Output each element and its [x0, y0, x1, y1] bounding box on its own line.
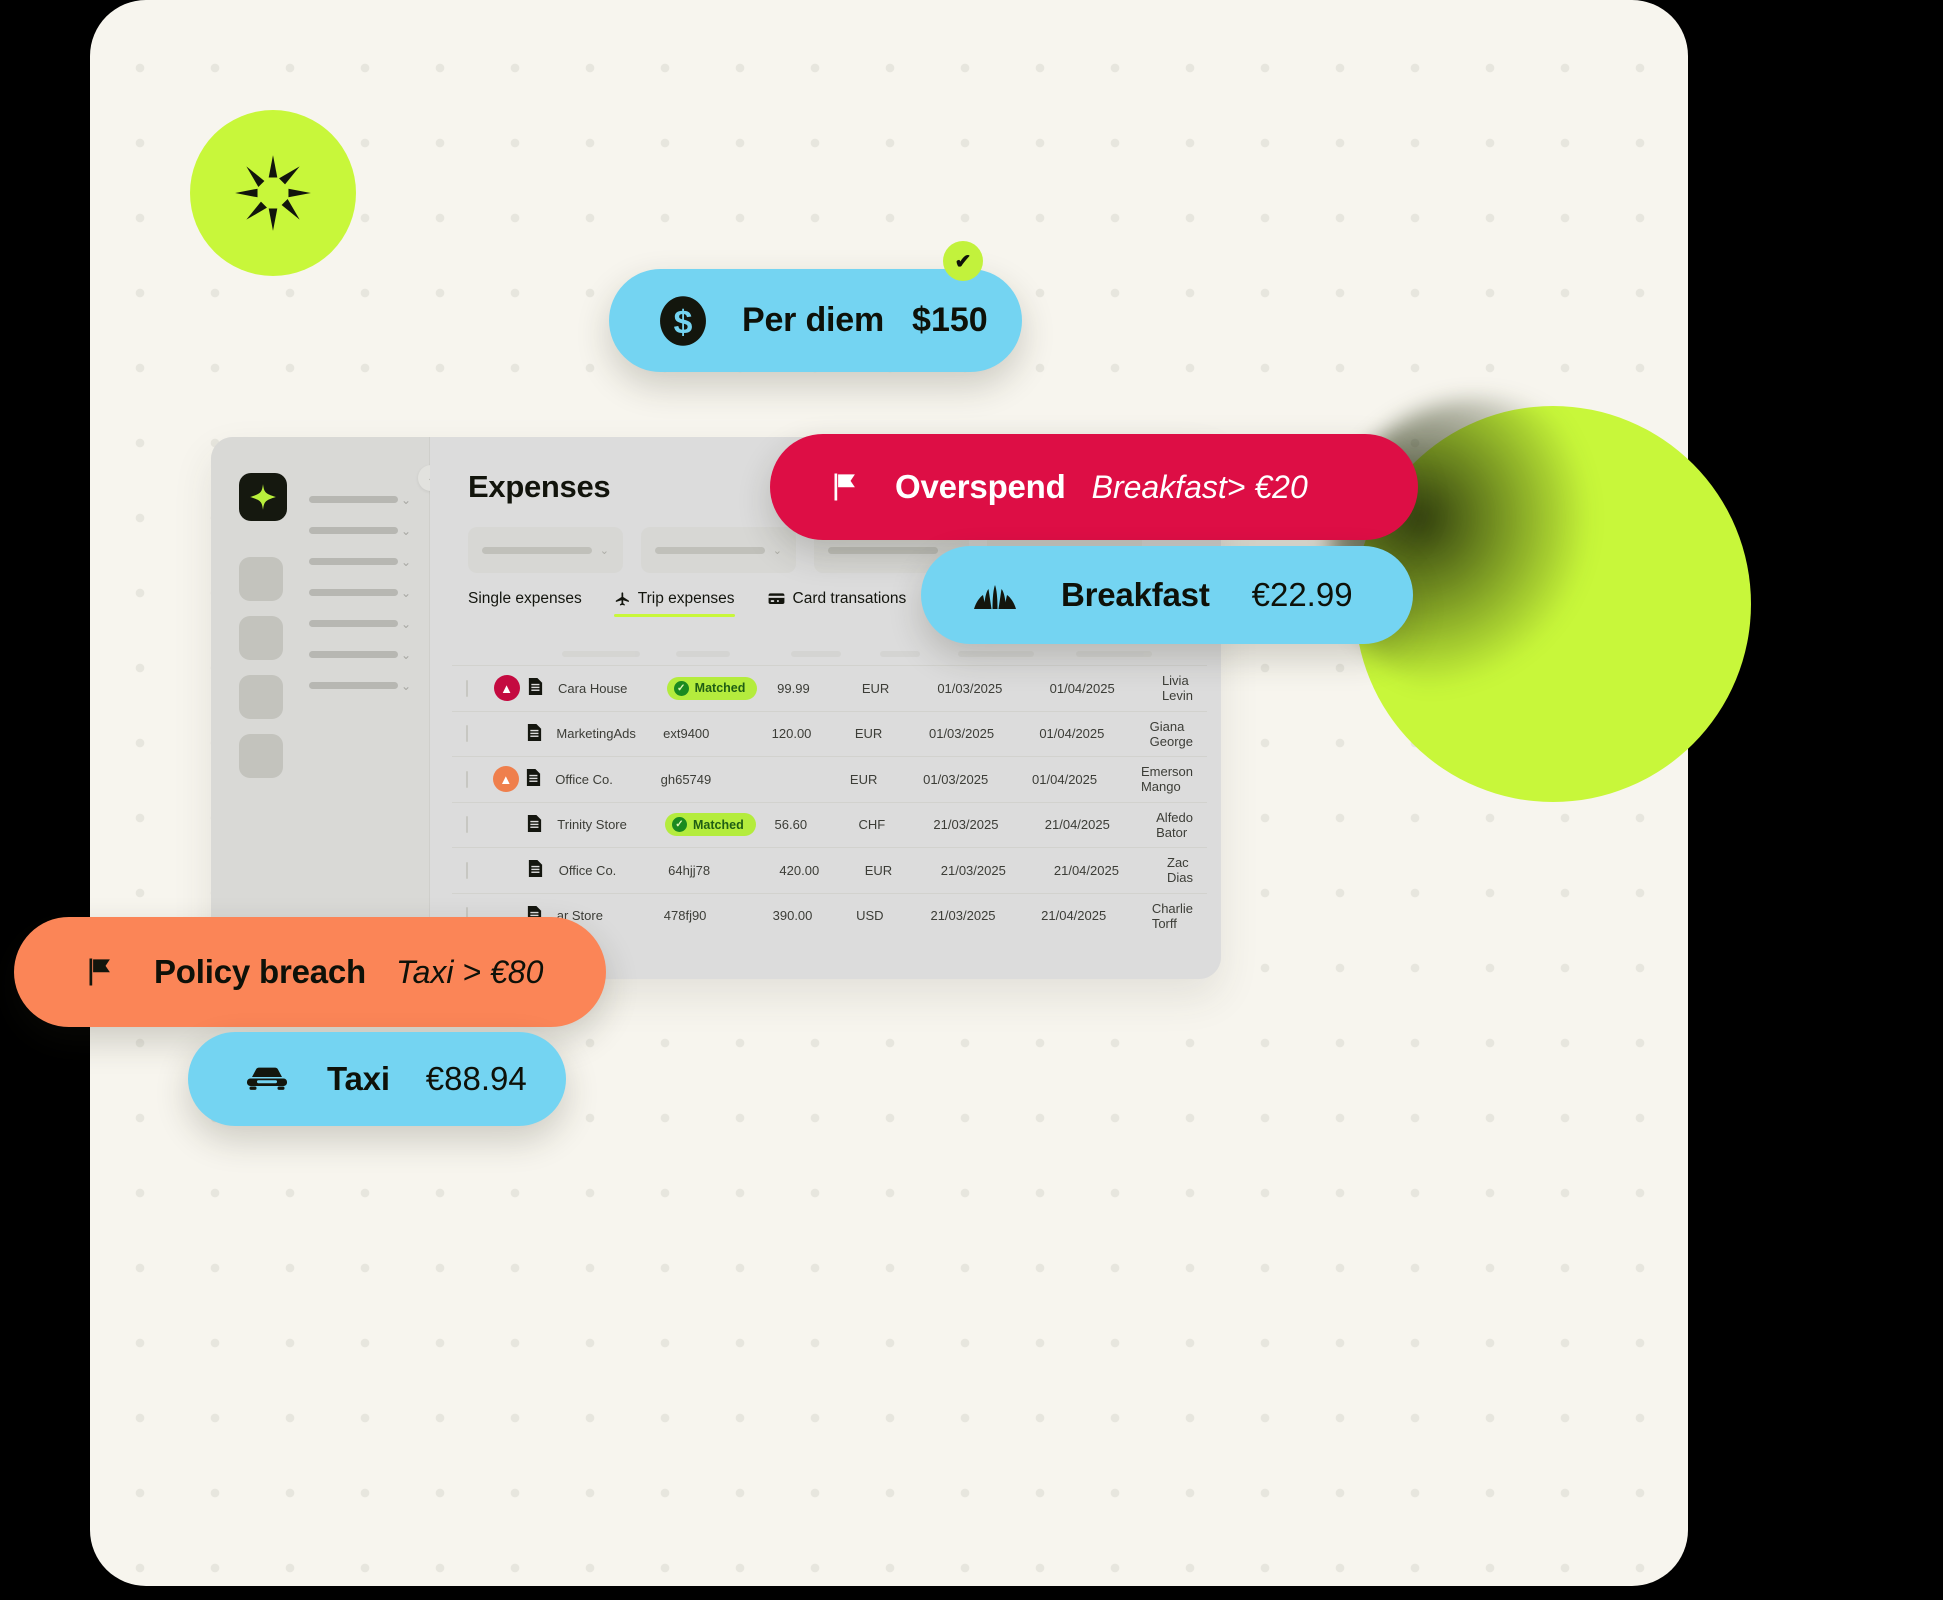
menu-label-placeholder — [309, 558, 398, 565]
policy-breach-label: Policy breach — [154, 953, 366, 991]
croissant-icon — [973, 577, 1017, 613]
document-icon[interactable] — [525, 768, 555, 790]
document-icon[interactable] — [526, 723, 557, 745]
taxi-pill[interactable]: Taxi €88.94 — [188, 1032, 566, 1126]
sidebar-menu-row[interactable]: ⌄ — [309, 515, 414, 546]
cell-status: 478fj90 — [664, 908, 773, 923]
filter-value-placeholder — [828, 547, 938, 554]
cell-date-from: 21/03/2025 — [941, 863, 1054, 878]
cell-status: gh65749 — [661, 772, 768, 787]
checkbox-box — [466, 680, 468, 697]
breakfast-value: €22.99 — [1252, 576, 1353, 614]
document-icon[interactable] — [526, 814, 557, 836]
flag-icon — [827, 469, 863, 505]
cell-date-from: 21/03/2025 — [933, 817, 1044, 832]
sidebar-menu-row[interactable]: ⌄ — [309, 639, 414, 670]
per-diem-label: Per diem — [742, 301, 884, 340]
cell-person: Alfedo Bator — [1156, 810, 1193, 840]
row-alert-cell: ▲ — [493, 766, 525, 792]
sidebar-menu-row[interactable]: ⌄ — [309, 577, 414, 608]
cell-amount: 56.60 — [775, 817, 859, 832]
svg-text:$: $ — [674, 303, 693, 341]
column-header-placeholder — [791, 651, 841, 657]
column-header-placeholder — [880, 651, 920, 657]
row-alert-cell: ▲ — [494, 675, 527, 701]
per-diem-value: $150 — [912, 301, 988, 340]
tab-single-expenses[interactable]: Single expenses — [468, 590, 582, 617]
document-icon[interactable] — [527, 859, 559, 881]
row-checkbox[interactable] — [466, 863, 494, 878]
policy-breach-pill[interactable]: Policy breach Taxi > €80 — [14, 917, 606, 1027]
dollar-coin-icon: $ — [656, 294, 710, 348]
per-diem-approved-badge: ✔ — [943, 241, 983, 281]
overspend-value: Breakfast> €20 — [1092, 469, 1308, 506]
flag-icon — [82, 954, 118, 990]
row-checkbox[interactable] — [466, 681, 494, 696]
sun-burst-icon — [230, 150, 316, 236]
sidebar-menu-row[interactable]: ⌄ — [309, 484, 414, 515]
tab-label: Trip expenses — [638, 590, 735, 608]
dashboard-sidebar: ⌄ ⌄ ⌄ ⌄ ⌄ ⌄ ⌄ ‹ — [211, 437, 430, 979]
check-circle-icon: ✓ — [672, 817, 687, 832]
cell-date-from: 21/03/2025 — [930, 908, 1041, 923]
breakfast-label: Breakfast — [1061, 576, 1210, 614]
cell-merchant: Trinity Store — [557, 817, 665, 832]
cell-date-to: 21/04/2025 — [1045, 817, 1156, 832]
cell-date-to: 01/04/2025 — [1039, 726, 1149, 741]
cell-person: Emerson Mango — [1141, 764, 1193, 794]
overspend-pill[interactable]: Overspend Breakfast> €20 — [770, 434, 1418, 540]
checkbox-box — [466, 816, 468, 833]
sidebar-app-logo[interactable] — [239, 473, 287, 521]
menu-label-placeholder — [309, 589, 398, 596]
cell-currency: USD — [856, 908, 930, 923]
sidebar-menu-row[interactable]: ⌄ — [309, 608, 414, 639]
checkbox-box — [466, 862, 468, 879]
cell-person: Giana George — [1150, 719, 1193, 749]
cell-date-from: 01/03/2025 — [929, 726, 1039, 741]
cell-status: ✓Matched — [667, 677, 777, 700]
alert-warning-icon[interactable]: ▲ — [493, 766, 519, 792]
cell-status: ✓Matched — [665, 813, 775, 836]
check-circle-icon: ✓ — [674, 681, 689, 696]
cell-date-from: 01/03/2025 — [937, 681, 1049, 696]
cell-currency: EUR — [850, 772, 923, 787]
tab-bar: Single expenses Trip expenses Card trans… — [468, 589, 906, 617]
sidebar-item-3[interactable] — [239, 675, 283, 719]
check-icon: ✔ — [955, 249, 972, 274]
sidebar-menu-row[interactable]: ⌄ — [309, 670, 414, 701]
brand-logo — [190, 110, 356, 276]
expenses-table: ▲Cara House✓Matched99.99EUR01/03/202501/… — [452, 643, 1207, 938]
menu-label-placeholder — [309, 651, 398, 658]
menu-label-placeholder — [309, 496, 398, 503]
row-checkbox[interactable] — [466, 726, 493, 741]
tab-label: Card transations — [793, 590, 907, 608]
chevron-down-icon[interactable]: ⌄ — [398, 680, 414, 692]
per-diem-pill[interactable]: $ Per diem $150 — [609, 269, 1022, 372]
cell-merchant: Cara House — [558, 681, 667, 696]
cell-person: Zac Dias — [1167, 855, 1193, 885]
cell-date-to: 01/04/2025 — [1032, 772, 1141, 787]
cell-status: ext9400 — [663, 726, 772, 741]
cell-date-to: 01/04/2025 — [1050, 681, 1162, 696]
sidebar-menu-row[interactable]: ⌄ — [309, 546, 414, 577]
screenshot-stage: ⌄ ⌄ ⌄ ⌄ ⌄ ⌄ ⌄ ‹ Expenses ⌄ ⌄ ⌄ ⌄ — [0, 0, 1943, 1600]
column-header-placeholder — [958, 651, 1034, 657]
cell-merchant: Office Co. — [559, 863, 668, 878]
tab-card-transactions[interactable]: Card transations — [767, 589, 907, 617]
column-header-placeholder — [562, 651, 640, 657]
cell-status: 64hjj78 — [668, 863, 779, 878]
menu-label-placeholder — [309, 527, 398, 534]
sidebar-item-2[interactable] — [239, 616, 283, 660]
row-checkbox[interactable] — [466, 817, 493, 832]
breakfast-pill[interactable]: Breakfast €22.99 — [921, 546, 1413, 644]
table-row[interactable]: Office Co.64hjj78420.00EUR21/03/202521/0… — [452, 847, 1207, 893]
airplane-icon — [614, 591, 631, 608]
chevron-down-icon[interactable]: ⌄ — [398, 649, 414, 661]
cell-date-to: 21/04/2025 — [1041, 908, 1152, 923]
policy-breach-value: Taxi > €80 — [396, 954, 543, 991]
cell-amount: 420.00 — [779, 863, 864, 878]
car-icon — [245, 1063, 289, 1095]
filter-dropdown-1[interactable]: ⌄ — [468, 527, 623, 573]
cell-amount: 99.99 — [777, 681, 862, 696]
chevron-down-icon: ⌄ — [773, 544, 782, 557]
column-header-placeholder — [676, 651, 730, 657]
filter-value-placeholder — [655, 547, 765, 554]
credit-card-icon — [767, 589, 786, 608]
sidebar-icon-rail — [239, 473, 287, 793]
cell-date-to: 21/04/2025 — [1054, 863, 1167, 878]
menu-label-placeholder — [309, 682, 398, 689]
filter-value-placeholder — [482, 547, 592, 554]
cell-person: Livia Levin — [1162, 673, 1193, 703]
checkbox-box — [466, 725, 468, 742]
status-badge: ✓Matched — [665, 813, 756, 836]
cell-currency: EUR — [862, 681, 937, 696]
chevron-down-icon[interactable]: ⌄ — [398, 556, 414, 568]
chevron-down-icon[interactable]: ⌄ — [398, 525, 414, 537]
status-badge: ✓Matched — [667, 677, 758, 700]
cell-merchant: Office Co. — [555, 772, 660, 787]
cell-person: Charlie Torff — [1152, 901, 1193, 931]
tab-trip-expenses[interactable]: Trip expenses — [614, 590, 735, 617]
chevron-down-icon[interactable]: ⌄ — [398, 494, 414, 506]
overspend-label: Overspend — [895, 468, 1066, 506]
chevron-down-icon: ⌄ — [600, 544, 609, 557]
taxi-label: Taxi — [327, 1060, 390, 1098]
cell-currency: CHF — [859, 817, 934, 832]
cell-amount: 390.00 — [773, 908, 856, 923]
star-spark-icon — [249, 483, 277, 511]
document-icon[interactable] — [527, 677, 558, 699]
sidebar-item-4[interactable] — [239, 734, 283, 778]
checkbox-box — [466, 771, 468, 788]
column-header-placeholder — [1076, 651, 1152, 657]
table-row[interactable]: MarketingAdsext9400120.00EUR01/03/202501… — [452, 711, 1207, 757]
menu-label-placeholder — [309, 620, 398, 627]
cell-currency: EUR — [855, 726, 929, 741]
cell-currency: EUR — [865, 863, 941, 878]
table-header-row — [452, 643, 1207, 665]
row-checkbox[interactable] — [466, 772, 493, 787]
tab-label: Single expenses — [468, 590, 582, 608]
sidebar-menu-list: ⌄ ⌄ ⌄ ⌄ ⌄ ⌄ ⌄ — [309, 484, 414, 701]
table-row[interactable]: ▲Cara House✓Matched99.99EUR01/03/202501/… — [452, 665, 1207, 711]
filter-dropdown-2[interactable]: ⌄ — [641, 527, 796, 573]
alert-critical-icon[interactable]: ▲ — [494, 675, 520, 701]
page-title: Expenses — [468, 469, 610, 505]
table-body: ▲Cara House✓Matched99.99EUR01/03/202501/… — [452, 665, 1207, 938]
table-row[interactable]: ▲Office Co.gh65749EUR01/03/202501/04/202… — [452, 756, 1207, 802]
table-row[interactable]: Trinity Store✓Matched56.60CHF21/03/20252… — [452, 802, 1207, 848]
taxi-value: €88.94 — [426, 1060, 527, 1098]
sidebar-item-1[interactable] — [239, 557, 283, 601]
chevron-down-icon[interactable]: ⌄ — [398, 618, 414, 630]
cell-amount: 120.00 — [772, 726, 855, 741]
cell-merchant: MarketingAds — [556, 726, 663, 741]
cell-date-from: 01/03/2025 — [923, 772, 1032, 787]
chevron-down-icon[interactable]: ⌄ — [398, 587, 414, 599]
